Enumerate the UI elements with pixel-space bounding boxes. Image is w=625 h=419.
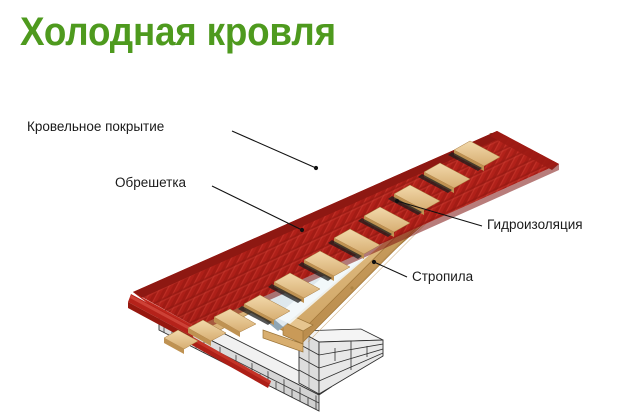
leader-dot-rafters <box>372 260 376 264</box>
callout-label-roofing: Кровельное покрытие <box>27 120 164 134</box>
callout-label-waterproofing: Гидроизоляция <box>487 218 583 232</box>
roof-illustration <box>0 0 625 419</box>
leader-dot-roofing <box>314 166 318 170</box>
callout-label-rafters: Стропила <box>412 270 473 284</box>
leader-line-roofing <box>232 131 316 168</box>
leader-dot-battens <box>300 228 304 232</box>
leader-line-battens <box>212 186 302 230</box>
diagram-canvas: Холодная кровля <box>0 0 625 419</box>
callout-label-battens: Обрешетка <box>115 176 186 190</box>
leader-dot-waterproofing <box>395 199 399 203</box>
leader-line-rafters <box>374 262 407 277</box>
